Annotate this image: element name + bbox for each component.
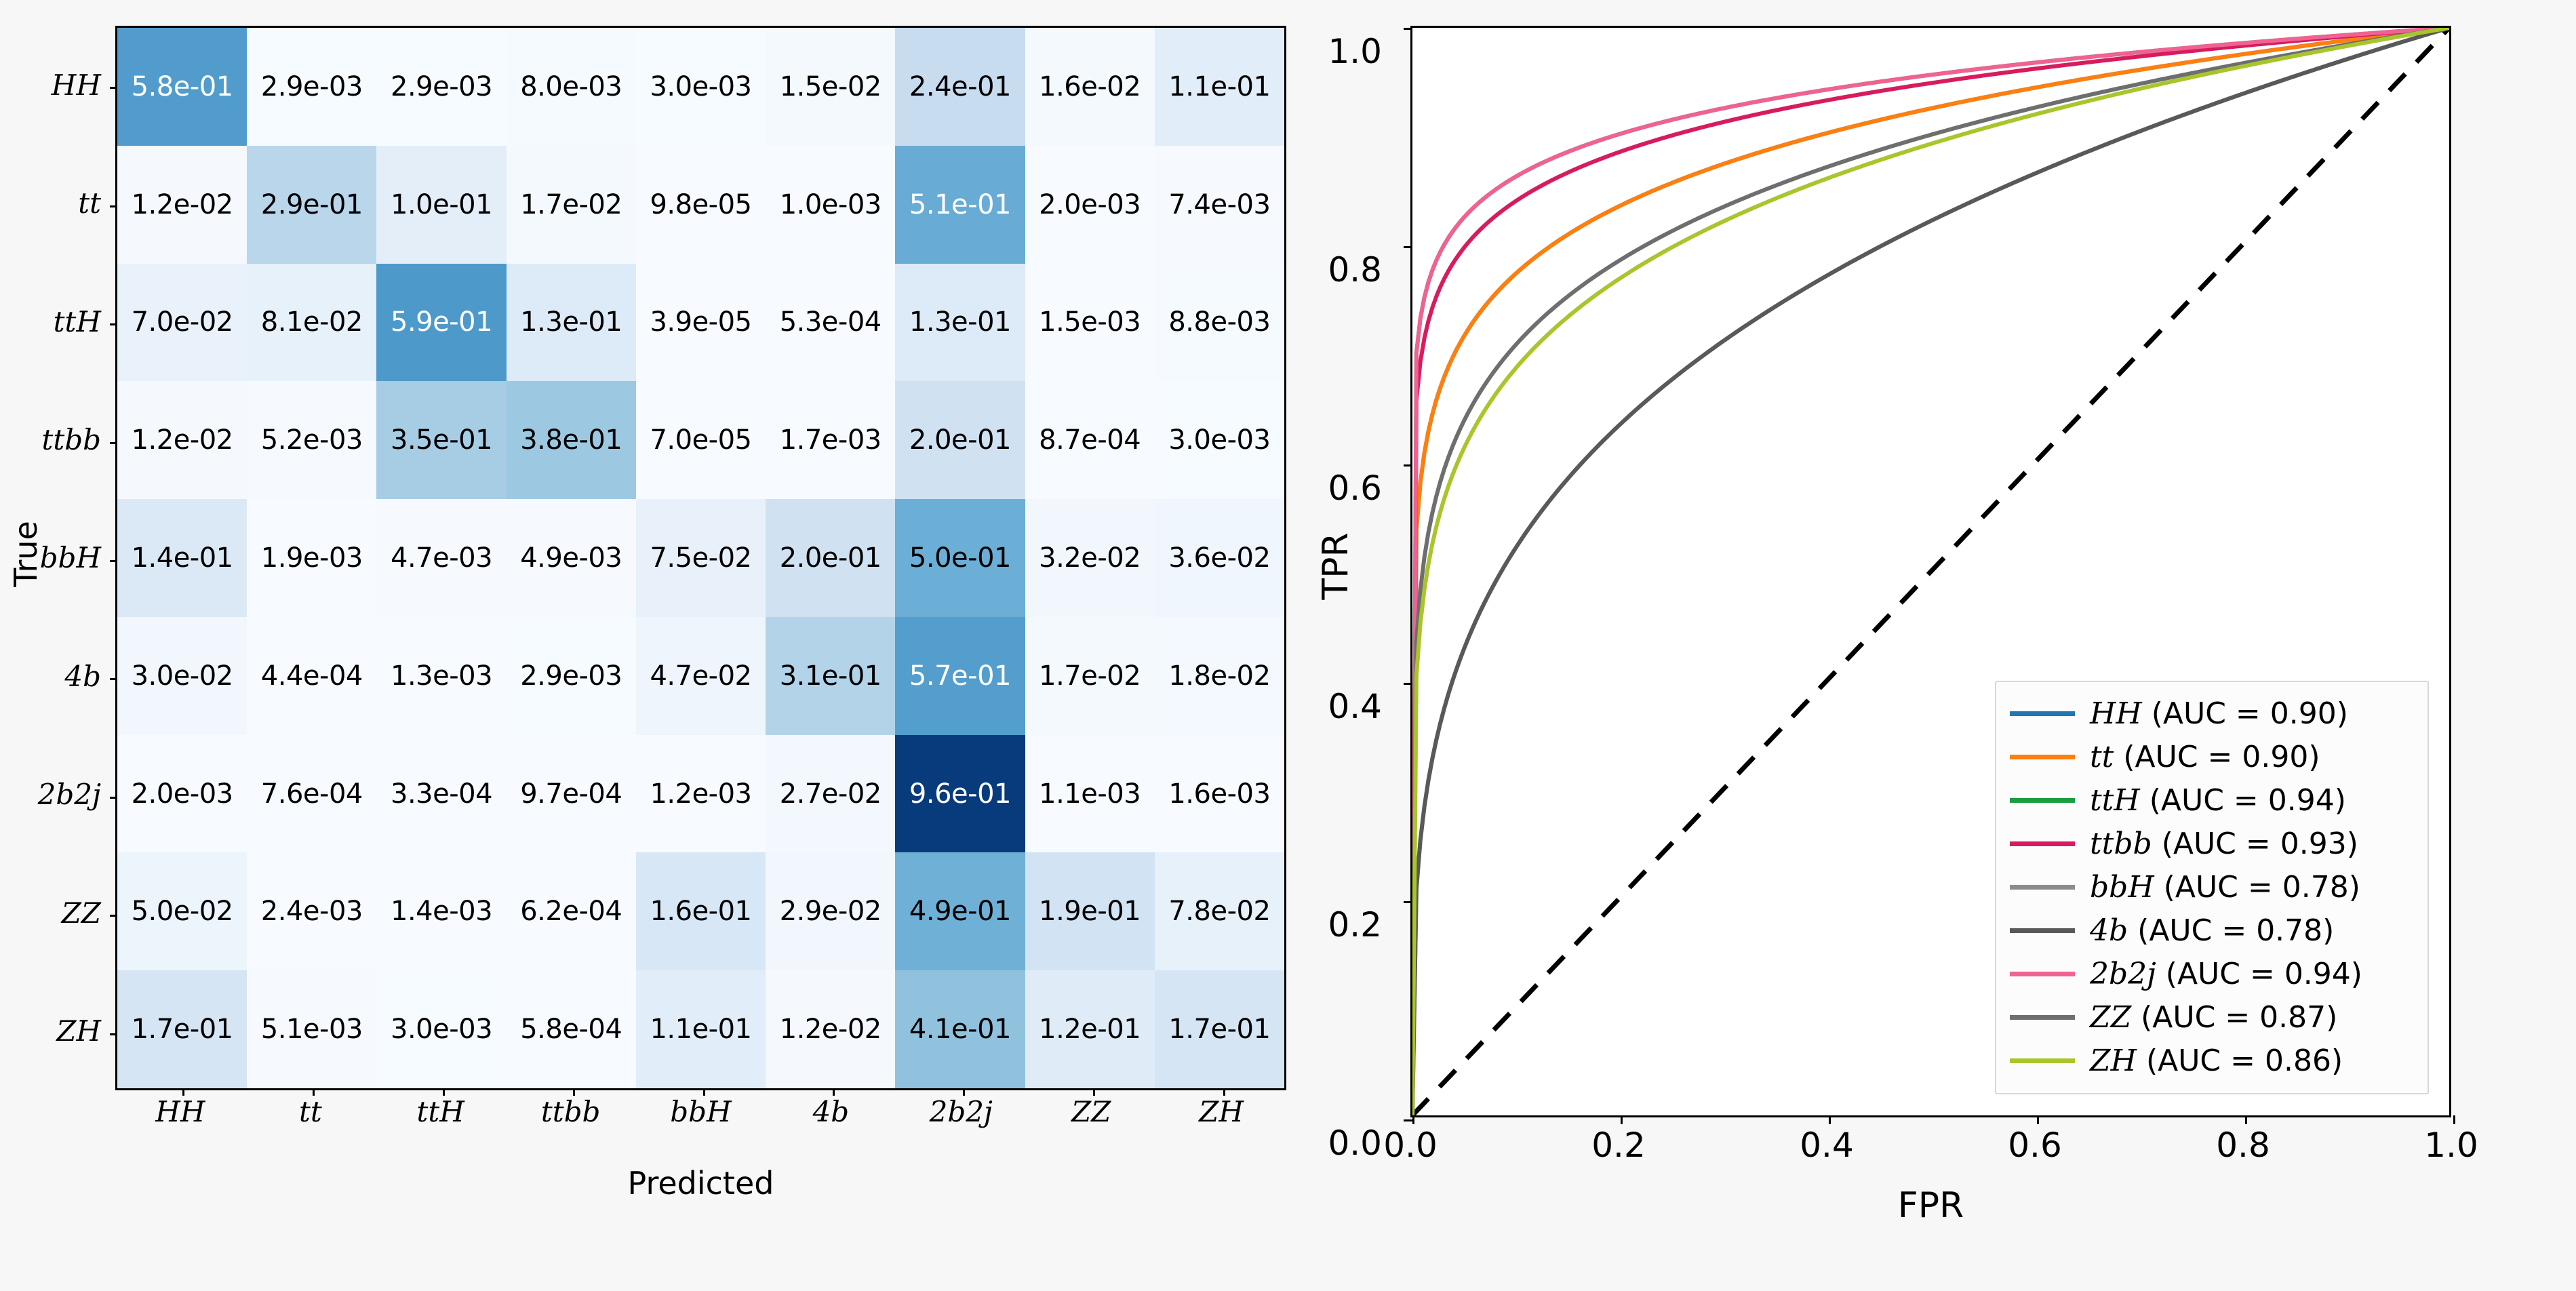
confusion-matrix-cell: 1.0e-03 <box>766 146 895 264</box>
confusion-matrix-cell: 3.0e-03 <box>636 28 766 146</box>
confusion-matrix-cell: 5.0e-02 <box>117 852 247 970</box>
confusion-matrix-cell-value: 1.0e-03 <box>780 191 881 218</box>
confusion-matrix-cell-value: 4.1e-01 <box>909 1016 1011 1043</box>
confusion-matrix-cell: 5.9e-01 <box>376 264 506 382</box>
roc-x-tick: 1.0 <box>2424 1126 2478 1165</box>
confusion-matrix-cell-value: 1.7e-01 <box>132 1016 233 1043</box>
roc-legend-label: ttH (AUC = 0.94) <box>2090 783 2346 818</box>
roc-y-tick: 0.8 <box>1328 250 1382 290</box>
confusion-matrix-cell: 3.0e-03 <box>376 970 506 1088</box>
roc-legend-item: ttbb (AUC = 0.93) <box>2010 822 2414 865</box>
confusion-matrix-cell: 7.4e-03 <box>1155 146 1284 264</box>
confusion-matrix-cell: 3.2e-02 <box>1025 499 1155 617</box>
confusion-matrix-y-tickmark <box>110 1033 117 1035</box>
roc-legend-label: HH (AUC = 0.90) <box>2090 696 2348 731</box>
confusion-matrix-panel: True HHttttHttbbbbH4b2b2jZZZH 5.8e-012.9… <box>0 0 1295 1291</box>
roc-legend-label: 4b (AUC = 0.78) <box>2090 913 2334 948</box>
confusion-matrix-cell: 1.1e-01 <box>1155 28 1284 146</box>
confusion-matrix-cell: 5.8e-04 <box>507 970 636 1088</box>
confusion-matrix-cell-value: 5.1e-03 <box>261 1016 363 1043</box>
confusion-matrix-cell-value: 5.2e-03 <box>261 426 363 454</box>
confusion-matrix-y-tickmark <box>110 87 117 89</box>
roc-y-tickmark <box>1404 683 1412 685</box>
confusion-matrix-cell-value: 5.7e-01 <box>909 662 1011 690</box>
confusion-matrix-cell: 4.9e-03 <box>507 499 636 617</box>
roc-legend-color-swatch <box>2010 1015 2075 1020</box>
confusion-matrix-cell-value: 2.9e-03 <box>261 73 363 100</box>
confusion-matrix-cell-value: 1.2e-01 <box>1039 1016 1141 1043</box>
roc-y-tick-labels: 0.00.20.40.60.81.0 <box>1288 26 1397 1117</box>
confusion-matrix-cell-value: 4.4e-04 <box>261 662 363 690</box>
roc-legend-color-swatch <box>2010 755 2075 759</box>
confusion-matrix-cell-value: 2.4e-03 <box>261 898 363 925</box>
confusion-matrix-cell: 3.0e-02 <box>117 617 247 735</box>
confusion-matrix-cell-value: 1.7e-02 <box>520 191 622 218</box>
confusion-matrix-cell: 6.2e-04 <box>507 852 636 970</box>
confusion-matrix-cell: 1.5e-03 <box>1025 264 1155 382</box>
confusion-matrix-cell: 3.1e-01 <box>766 617 895 735</box>
confusion-matrix-cell: 1.2e-01 <box>1025 970 1155 1088</box>
confusion-matrix-cell-value: 8.0e-03 <box>520 73 622 100</box>
confusion-matrix-x-tick: ZZ <box>1026 1095 1156 1156</box>
roc-y-tick: 1.0 <box>1328 32 1382 71</box>
confusion-matrix-cell-value: 2.0e-01 <box>909 426 1011 454</box>
confusion-matrix-cell: 1.7e-01 <box>117 970 247 1088</box>
confusion-matrix-cell: 7.6e-04 <box>247 735 376 853</box>
confusion-matrix-cell-value: 3.0e-03 <box>650 73 751 100</box>
roc-legend-auc-text: (AUC = 0.94) <box>2156 957 2362 991</box>
confusion-matrix-cell: 1.1e-03 <box>1025 735 1155 853</box>
confusion-matrix-cell-value: 1.2e-02 <box>132 426 233 454</box>
confusion-matrix-y-tick: HH <box>0 26 112 144</box>
confusion-matrix-cell-value: 1.6e-01 <box>650 898 751 925</box>
roc-legend-label: ZH (AUC = 0.86) <box>2090 1044 2343 1078</box>
confusion-matrix-cell-value: 1.8e-02 <box>1168 662 1270 690</box>
roc-legend-class-name: ZZ <box>2090 1000 2131 1035</box>
roc-legend-label: bbH (AUC = 0.78) <box>2090 870 2360 905</box>
confusion-matrix-cell-value: 1.2e-03 <box>650 780 751 808</box>
confusion-matrix-cell: 3.5e-01 <box>376 381 506 499</box>
roc-legend-color-swatch <box>2010 841 2075 846</box>
confusion-matrix-x-tick: 4b <box>766 1095 896 1156</box>
confusion-matrix-cell-value: 2.9e-03 <box>391 73 492 100</box>
roc-legend-auc-text: (AUC = 0.90) <box>2114 740 2320 774</box>
confusion-matrix-x-tick: tt <box>245 1095 376 1156</box>
roc-legend-item: ZZ (AUC = 0.87) <box>2010 995 2414 1039</box>
confusion-matrix-y-tick: ZH <box>0 972 112 1090</box>
confusion-matrix-cell-value: 9.7e-04 <box>520 780 622 808</box>
confusion-matrix-cell-value: 2.0e-01 <box>780 544 881 572</box>
confusion-matrix-y-tick-labels: HHttttHttbbbbH4b2b2jZZZH <box>0 26 112 1090</box>
confusion-matrix-cell-value: 3.1e-01 <box>780 662 881 690</box>
confusion-matrix-cell-value: 1.1e-03 <box>1039 780 1141 808</box>
confusion-matrix-cell-value: 8.8e-03 <box>1168 309 1270 336</box>
roc-legend-class-name: 2b2j <box>2090 957 2156 991</box>
roc-y-tick: 0.4 <box>1328 687 1382 726</box>
confusion-matrix-cell: 5.2e-03 <box>247 381 376 499</box>
confusion-matrix-cell: 4.7e-03 <box>376 499 506 617</box>
confusion-matrix-cell-value: 1.2e-02 <box>132 191 233 218</box>
confusion-matrix-cell: 1.7e-03 <box>766 381 895 499</box>
roc-legend: HH (AUC = 0.90)tt (AUC = 0.90)ttH (AUC =… <box>1995 681 2429 1094</box>
confusion-matrix-cell-value: 8.7e-04 <box>1039 426 1141 454</box>
confusion-matrix-x-tick: HH <box>115 1095 245 1156</box>
confusion-matrix-cell: 1.7e-01 <box>1155 970 1284 1088</box>
confusion-matrix-grid: 5.8e-012.9e-032.9e-038.0e-033.0e-031.5e-… <box>117 28 1284 1088</box>
confusion-matrix-cell: 1.7e-02 <box>507 146 636 264</box>
confusion-matrix-cell: 9.8e-05 <box>636 146 766 264</box>
confusion-matrix-y-tick: bbH <box>0 499 112 617</box>
confusion-matrix-x-tick: ZH <box>1156 1095 1286 1156</box>
confusion-matrix-cell: 2.9e-03 <box>247 28 376 146</box>
confusion-matrix-y-tickmark <box>110 323 117 325</box>
roc-legend-color-swatch <box>2010 798 2075 803</box>
roc-y-tick: 0.6 <box>1328 469 1382 508</box>
confusion-matrix-cell-value: 4.7e-02 <box>650 662 751 690</box>
confusion-matrix-cell: 4.4e-04 <box>247 617 376 735</box>
confusion-matrix-cell-value: 1.6e-02 <box>1039 73 1141 100</box>
confusion-matrix-cell-value: 3.9e-05 <box>650 309 751 336</box>
confusion-matrix-cell-value: 9.6e-01 <box>909 780 1011 808</box>
confusion-matrix-cell: 8.8e-03 <box>1155 264 1284 382</box>
confusion-matrix-cell-value: 5.3e-04 <box>780 309 881 336</box>
confusion-matrix-cell-value: 2.7e-02 <box>780 780 881 808</box>
confusion-matrix-cell-value: 1.3e-01 <box>520 309 622 336</box>
roc-legend-auc-text: (AUC = 0.87) <box>2131 1000 2337 1035</box>
confusion-matrix-cell-value: 5.9e-01 <box>391 309 492 336</box>
confusion-matrix-cell: 7.5e-02 <box>636 499 766 617</box>
confusion-matrix-cell: 2.9e-01 <box>247 146 376 264</box>
roc-legend-label: tt (AUC = 0.90) <box>2090 740 2320 774</box>
confusion-matrix-cell: 1.1e-01 <box>636 970 766 1088</box>
confusion-matrix-cell: 4.9e-01 <box>895 852 1025 970</box>
confusion-matrix-cell: 2.0e-01 <box>895 381 1025 499</box>
confusion-matrix-cell-value: 5.8e-01 <box>132 73 233 100</box>
roc-y-tickmark <box>1404 28 1412 30</box>
roc-y-tick: 0.0 <box>1328 1124 1382 1163</box>
roc-x-tick: 0.0 <box>1383 1126 1438 1165</box>
confusion-matrix-cell-value: 2.9e-03 <box>520 662 622 690</box>
confusion-matrix-cell-value: 4.9e-01 <box>909 898 1011 925</box>
confusion-matrix-cell: 1.2e-02 <box>117 381 247 499</box>
confusion-matrix-cell-value: 2.9e-02 <box>780 898 881 925</box>
confusion-matrix-cell-value: 3.5e-01 <box>391 426 492 454</box>
confusion-matrix-cell: 5.1e-01 <box>895 146 1025 264</box>
confusion-matrix-cell: 8.0e-03 <box>507 28 636 146</box>
confusion-matrix-cell-value: 1.7e-01 <box>1168 1016 1270 1043</box>
roc-legend-label: ttbb (AUC = 0.93) <box>2090 827 2358 861</box>
confusion-matrix-cell-value: 1.3e-01 <box>909 309 1011 336</box>
roc-legend-color-swatch <box>2010 972 2075 976</box>
confusion-matrix-y-tickmark <box>110 797 117 799</box>
confusion-matrix-cell: 8.7e-04 <box>1025 381 1155 499</box>
confusion-matrix-cell: 1.6e-02 <box>1025 28 1155 146</box>
confusion-matrix-cell-value: 1.7e-02 <box>1039 662 1141 690</box>
roc-legend-color-swatch <box>2010 1058 2075 1063</box>
confusion-matrix-cell-value: 3.0e-03 <box>391 1016 492 1043</box>
confusion-matrix-x-axis-label: Predicted <box>115 1165 1286 1201</box>
confusion-matrix-axes: 5.8e-012.9e-032.9e-038.0e-033.0e-031.5e-… <box>115 26 1286 1090</box>
confusion-matrix-cell: 3.0e-03 <box>1155 381 1284 499</box>
roc-legend-item: HH (AUC = 0.90) <box>2010 692 2414 735</box>
confusion-matrix-cell: 1.2e-02 <box>766 970 895 1088</box>
confusion-matrix-cell-value: 6.2e-04 <box>520 898 622 925</box>
confusion-matrix-cell: 7.0e-02 <box>117 264 247 382</box>
roc-legend-item: ZH (AUC = 0.86) <box>2010 1039 2414 1082</box>
confusion-matrix-cell-value: 5.8e-04 <box>520 1016 622 1043</box>
confusion-matrix-cell-value: 3.0e-02 <box>132 662 233 690</box>
confusion-matrix-cell: 5.0e-01 <box>895 499 1025 617</box>
confusion-matrix-y-tick: 2b2j <box>0 736 112 854</box>
confusion-matrix-cell: 1.0e-01 <box>376 146 506 264</box>
figure-root: True HHttttHttbbbbH4b2b2jZZZH 5.8e-012.9… <box>0 0 2576 1291</box>
confusion-matrix-cell-value: 1.5e-02 <box>780 73 881 100</box>
roc-legend-color-swatch <box>2010 885 2075 890</box>
confusion-matrix-cell: 2.4e-03 <box>247 852 376 970</box>
confusion-matrix-y-tickmark <box>110 915 117 917</box>
confusion-matrix-y-tickmark <box>110 205 117 207</box>
confusion-matrix-cell-value: 1.1e-01 <box>650 1016 751 1043</box>
confusion-matrix-cell: 9.6e-01 <box>895 735 1025 853</box>
roc-legend-label: ZZ (AUC = 0.87) <box>2090 1000 2337 1035</box>
roc-legend-item: 4b (AUC = 0.78) <box>2010 909 2414 952</box>
roc-legend-auc-text: (AUC = 0.78) <box>2154 870 2360 905</box>
confusion-matrix-cell: 1.2e-03 <box>636 735 766 853</box>
confusion-matrix-cell-value: 7.4e-03 <box>1168 191 1270 218</box>
roc-legend-auc-text: (AUC = 0.94) <box>2140 783 2346 818</box>
confusion-matrix-cell: 5.3e-04 <box>766 264 895 382</box>
confusion-matrix-x-tick: ttbb <box>506 1095 636 1156</box>
roc-x-tick: 0.4 <box>1800 1126 1854 1165</box>
roc-legend-auc-text: (AUC = 0.86) <box>2137 1044 2343 1078</box>
confusion-matrix-cell-value: 1.9e-03 <box>261 544 363 572</box>
confusion-matrix-cell-value: 2.0e-03 <box>132 780 233 808</box>
confusion-matrix-y-tick: tt <box>0 144 112 262</box>
confusion-matrix-cell-value: 2.4e-01 <box>909 73 1011 100</box>
confusion-matrix-y-tick: ttbb <box>0 380 112 498</box>
roc-x-tick: 0.8 <box>2216 1126 2270 1165</box>
confusion-matrix-cell-value: 7.5e-02 <box>650 544 751 572</box>
roc-x-tickmark <box>1412 1115 1414 1124</box>
roc-legend-item: ttH (AUC = 0.94) <box>2010 778 2414 822</box>
confusion-matrix-cell: 2.9e-03 <box>507 617 636 735</box>
confusion-matrix-cell-value: 7.0e-05 <box>650 426 751 454</box>
roc-legend-item: tt (AUC = 0.90) <box>2010 735 2414 778</box>
roc-y-tick: 0.2 <box>1328 905 1382 945</box>
roc-y-tickmark <box>1404 246 1412 248</box>
confusion-matrix-cell-value: 3.8e-01 <box>520 426 622 454</box>
confusion-matrix-cell: 2.9e-02 <box>766 852 895 970</box>
roc-y-tickmark <box>1404 1119 1412 1121</box>
confusion-matrix-cell-value: 9.8e-05 <box>650 191 751 218</box>
roc-legend-class-name: ZH <box>2090 1044 2137 1078</box>
confusion-matrix-cell-value: 2.9e-01 <box>261 191 363 218</box>
roc-legend-label: 2b2j (AUC = 0.94) <box>2090 957 2362 991</box>
confusion-matrix-cell-value: 8.1e-02 <box>261 309 363 336</box>
roc-x-tickmark <box>1829 1115 1831 1124</box>
roc-x-axis-label: FPR <box>1410 1185 2451 1226</box>
roc-x-tick-labels: 0.00.20.40.60.81.0 <box>1410 1126 2451 1180</box>
confusion-matrix-cell-value: 4.7e-03 <box>391 544 492 572</box>
roc-legend-class-name: tt <box>2090 740 2114 774</box>
confusion-matrix-cell-value: 1.3e-03 <box>391 662 492 690</box>
confusion-matrix-cell: 1.9e-01 <box>1025 852 1155 970</box>
roc-x-tickmark <box>1621 1115 1623 1124</box>
confusion-matrix-y-tickmark <box>110 560 117 562</box>
roc-legend-item: bbH (AUC = 0.78) <box>2010 865 2414 909</box>
confusion-matrix-cell-value: 5.0e-01 <box>909 544 1011 572</box>
confusion-matrix-cell: 2.7e-02 <box>766 735 895 853</box>
confusion-matrix-cell: 7.0e-05 <box>636 381 766 499</box>
confusion-matrix-cell: 2.0e-01 <box>766 499 895 617</box>
confusion-matrix-cell: 1.8e-02 <box>1155 617 1284 735</box>
roc-x-tickmark <box>2037 1115 2039 1124</box>
confusion-matrix-cell-value: 7.6e-04 <box>261 780 363 808</box>
confusion-matrix-cell-value: 1.6e-03 <box>1168 780 1270 808</box>
confusion-matrix-cell: 3.9e-05 <box>636 264 766 382</box>
confusion-matrix-cell: 3.8e-01 <box>507 381 636 499</box>
confusion-matrix-cell: 5.7e-01 <box>895 617 1025 735</box>
confusion-matrix-cell-value: 2.0e-03 <box>1039 191 1141 218</box>
confusion-matrix-y-tick: ttH <box>0 262 112 380</box>
confusion-matrix-cell: 1.6e-03 <box>1155 735 1284 853</box>
roc-legend-auc-text: (AUC = 0.90) <box>2142 696 2348 731</box>
confusion-matrix-cell: 5.8e-01 <box>117 28 247 146</box>
roc-x-tick: 0.2 <box>1591 1126 1646 1165</box>
confusion-matrix-cell: 1.3e-01 <box>507 264 636 382</box>
confusion-matrix-x-tick: 2b2j <box>896 1095 1026 1156</box>
confusion-matrix-cell: 1.4e-03 <box>376 852 506 970</box>
confusion-matrix-cell: 2.4e-01 <box>895 28 1025 146</box>
confusion-matrix-cell-value: 3.6e-02 <box>1168 544 1270 572</box>
confusion-matrix-cell-value: 1.7e-03 <box>780 426 881 454</box>
roc-legend-item: 2b2j (AUC = 0.94) <box>2010 952 2414 995</box>
confusion-matrix-cell: 9.7e-04 <box>507 735 636 853</box>
confusion-matrix-cell: 1.5e-02 <box>766 28 895 146</box>
confusion-matrix-cell-value: 3.0e-03 <box>1168 426 1270 454</box>
confusion-matrix-cell: 7.8e-02 <box>1155 852 1284 970</box>
confusion-matrix-cell: 3.6e-02 <box>1155 499 1284 617</box>
roc-legend-class-name: 4b <box>2090 913 2128 948</box>
confusion-matrix-x-tick-labels: HHttttHttbbbbH4b2b2jZZZH <box>115 1095 1286 1156</box>
roc-legend-color-swatch <box>2010 928 2075 933</box>
confusion-matrix-cell-value: 7.0e-02 <box>132 309 233 336</box>
roc-legend-class-name: ttH <box>2090 783 2140 818</box>
confusion-matrix-cell: 5.1e-03 <box>247 970 376 1088</box>
confusion-matrix-y-tickmark <box>110 442 117 444</box>
confusion-matrix-y-tickmark <box>110 678 117 680</box>
roc-legend-auc-text: (AUC = 0.93) <box>2152 827 2358 861</box>
roc-legend-class-name: bbH <box>2090 870 2154 905</box>
confusion-matrix-x-tick: bbH <box>636 1095 766 1156</box>
confusion-matrix-cell: 4.7e-02 <box>636 617 766 735</box>
confusion-matrix-cell: 1.7e-02 <box>1025 617 1155 735</box>
roc-legend-class-name: HH <box>2090 696 2142 731</box>
confusion-matrix-cell: 1.3e-01 <box>895 264 1025 382</box>
confusion-matrix-y-tick: ZZ <box>0 854 112 972</box>
confusion-matrix-cell-value: 1.4e-03 <box>391 898 492 925</box>
confusion-matrix-cell-value: 3.3e-04 <box>391 780 492 808</box>
confusion-matrix-cell-value: 1.1e-01 <box>1168 73 1270 100</box>
confusion-matrix-cell: 3.3e-04 <box>376 735 506 853</box>
confusion-matrix-x-tick: ttH <box>376 1095 506 1156</box>
confusion-matrix-cell: 1.9e-03 <box>247 499 376 617</box>
confusion-matrix-cell-value: 5.0e-02 <box>132 898 233 925</box>
confusion-matrix-cell-value: 4.9e-03 <box>520 544 622 572</box>
confusion-matrix-cell-value: 1.5e-03 <box>1039 309 1141 336</box>
roc-y-tickmark <box>1404 901 1412 903</box>
confusion-matrix-cell-value: 1.2e-02 <box>780 1016 881 1043</box>
roc-legend-class-name: ttbb <box>2090 827 2152 861</box>
roc-curve-panel: TPR 0.00.20.40.60.81.0 0.00.20.40.60.81.… <box>1295 0 2576 1291</box>
confusion-matrix-cell-value: 1.4e-01 <box>132 544 233 572</box>
confusion-matrix-y-tick: 4b <box>0 617 112 735</box>
confusion-matrix-cell-value: 5.1e-01 <box>909 191 1011 218</box>
confusion-matrix-cell-value: 3.2e-02 <box>1039 544 1141 572</box>
confusion-matrix-cell: 1.6e-01 <box>636 852 766 970</box>
confusion-matrix-cell: 1.4e-01 <box>117 499 247 617</box>
roc-y-tickmark <box>1404 464 1412 466</box>
confusion-matrix-cell: 1.2e-02 <box>117 146 247 264</box>
confusion-matrix-cell: 4.1e-01 <box>895 970 1025 1088</box>
confusion-matrix-cell: 2.0e-03 <box>1025 146 1155 264</box>
roc-x-tickmark <box>2245 1115 2247 1124</box>
confusion-matrix-cell-value: 1.0e-01 <box>391 191 492 218</box>
confusion-matrix-cell: 1.3e-03 <box>376 617 506 735</box>
roc-legend-color-swatch <box>2010 711 2075 716</box>
confusion-matrix-cell: 2.0e-03 <box>117 735 247 853</box>
confusion-matrix-cell: 8.1e-02 <box>247 264 376 382</box>
roc-x-tickmark <box>2453 1115 2455 1124</box>
confusion-matrix-cell-value: 7.8e-02 <box>1168 898 1270 925</box>
confusion-matrix-cell: 2.9e-03 <box>376 28 506 146</box>
roc-legend-auc-text: (AUC = 0.78) <box>2128 913 2334 948</box>
roc-x-tick: 0.6 <box>2008 1126 2062 1165</box>
confusion-matrix-cell-value: 1.9e-01 <box>1039 898 1141 925</box>
